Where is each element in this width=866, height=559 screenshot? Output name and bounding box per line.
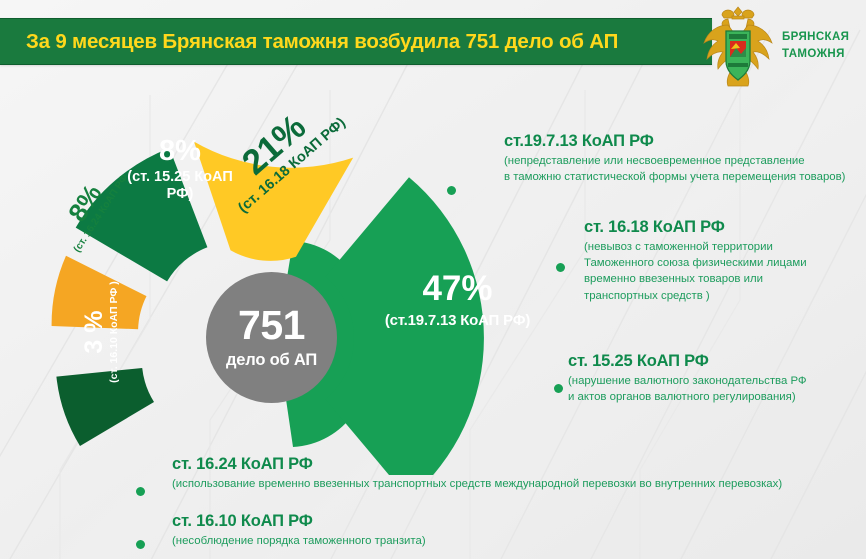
- brand-line-1: БРЯНСКАЯ: [782, 29, 849, 46]
- infographic-page: За 9 месяцев Брянская таможня возбудила …: [0, 0, 866, 559]
- legend-item-15-25[interactable]: ст. 15.25 КоАП РФ (нарушение валютного з…: [568, 352, 866, 405]
- slice-15-25[interactable]: [76, 148, 208, 281]
- slice-16-10[interactable]: [56, 368, 154, 446]
- legend-desc-16-24: (использование временно ввезенных трансп…: [172, 476, 792, 492]
- legend-dot-15-25: [554, 384, 563, 393]
- legend-item-16-18[interactable]: ст. 16.18 КоАП РФ (невывоз с таможенной …: [584, 218, 866, 304]
- legend-desc-15-25: (нарушение валютного законодательства РФ…: [568, 373, 866, 405]
- legend-title-16-24: ст. 16.24 КоАП РФ: [172, 455, 792, 474]
- center-total: 751 дело об АП: [206, 272, 337, 403]
- legend-title-16-10: ст. 16.10 КоАП РФ: [172, 512, 592, 531]
- legend-title-19-7-13: ст.19.7.13 КоАП РФ: [504, 132, 864, 151]
- legend-title-15-25: ст. 15.25 КоАП РФ: [568, 352, 866, 371]
- legend-dot-16-24: [136, 487, 145, 496]
- legend-desc-line: (использование временно ввезенных трансп…: [172, 476, 792, 492]
- total-label: дело об АП: [226, 351, 317, 370]
- legend-desc-16-18: (невывоз с таможенной территории Таможен…: [584, 239, 866, 304]
- legend-desc-line: (невывоз с таможенной территории: [584, 239, 866, 255]
- legend-desc-line: транспортных средств ): [584, 288, 866, 304]
- brand-line-2: ТАМОЖНЯ: [782, 46, 849, 63]
- legend-desc-line: (несоблюдение порядка таможенного транзи…: [172, 533, 592, 549]
- legend-item-16-10[interactable]: ст. 16.10 КоАП РФ (несоблюдение порядка …: [172, 512, 592, 549]
- legend-desc-line: и актов органов валютного регулирования): [568, 389, 866, 405]
- legend-dot-19-7-13: [447, 186, 456, 195]
- header-bar: За 9 месяцев Брянская таможня возбудила …: [0, 18, 712, 65]
- legend-dot-16-10: [136, 540, 145, 549]
- brand-name: БРЯНСКАЯ ТАМОЖНЯ: [782, 29, 849, 62]
- brand-logo: БРЯНСКАЯ ТАМОЖНЯ: [698, 3, 858, 89]
- legend-title-16-18: ст. 16.18 КоАП РФ: [584, 218, 866, 237]
- legend-desc-line: временно ввезенных товаров или: [584, 271, 866, 287]
- legend-item-16-24[interactable]: ст. 16.24 КоАП РФ (использование временн…: [172, 455, 792, 492]
- legend-desc-19-7-13: (непредставление или несвоевременное пре…: [504, 153, 864, 185]
- total-number: 751: [238, 305, 305, 345]
- legend-desc-line: Таможенного союза физическими лицами: [584, 255, 866, 271]
- customs-coat-of-arms-icon: [698, 3, 778, 89]
- legend-desc-line: в таможню статистической формы учета пер…: [504, 169, 864, 185]
- legend-desc-16-10: (несоблюдение порядка таможенного транзи…: [172, 533, 592, 549]
- legend-desc-line: (непредставление или несвоевременное пре…: [504, 153, 864, 169]
- slice-16-24[interactable]: [52, 256, 147, 330]
- legend-desc-line: (нарушение валютного законодательства РФ: [568, 373, 866, 389]
- legend-item-19-7-13[interactable]: ст.19.7.13 КоАП РФ (непредставление или …: [504, 132, 864, 185]
- pie-chart: 751 дело об АП 47% (ст.19.7.13 КоАП РФ) …: [20, 95, 560, 475]
- page-title: За 9 месяцев Брянская таможня возбудила …: [26, 30, 618, 54]
- legend-dot-16-18: [556, 263, 565, 272]
